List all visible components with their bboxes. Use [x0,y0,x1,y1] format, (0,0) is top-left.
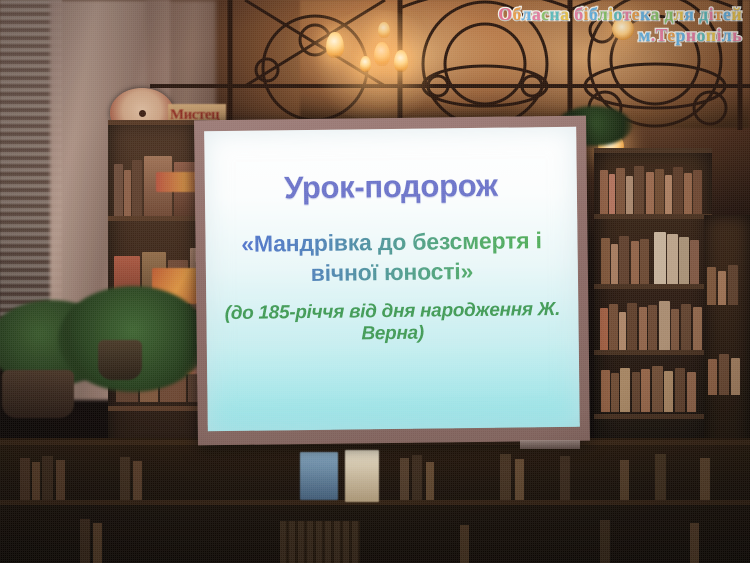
watermark-letter: п [706,25,717,45]
chandelier-bulb [378,22,390,38]
projection-screen-surface: Урок-подорож «Мандрівка до безсмертя і в… [204,127,580,432]
displayed-book-cover [345,450,379,502]
watermark-letter: л [722,25,732,45]
watermark: Обласна бібліотека для дітей м.Тернопіль [498,4,742,46]
watermark-letter: й [731,4,742,24]
watermark-letter: о [696,25,705,45]
chandelier-bulb [374,42,390,66]
watermark-letter: н [686,25,697,45]
watermark-letter: а [650,4,659,24]
chandelier [316,16,436,108]
displayed-book-cover [300,452,338,500]
watermark-letter: л [521,4,531,24]
watermark-letter: р [675,25,685,45]
watermark-letter: е [632,4,640,24]
watermark-letter: б [589,4,598,24]
slide-subtitle: «Мандрівка до безсмертя і вічної юності» [221,225,562,289]
watermark-letter: л [598,4,608,24]
slide-title: Урок-подорож [205,167,577,208]
watermark-letter: Т [656,25,668,45]
watermark-letter: т [623,4,632,24]
watermark-line-2: м.Тернопіль [498,25,742,46]
slide-note: (до 185-річчя від дня народження Ж. Верн… [212,299,573,347]
watermark-letter: а [560,4,569,24]
right-bookcase-far [704,215,750,455]
watermark-line-1: Обласна бібліотека для дітей [498,4,742,25]
chandelier-bulb [360,56,371,72]
watermark-letter: б [574,4,583,24]
watermark-letter: я [684,4,694,24]
watermark-letter: д [699,4,708,24]
projection-screen-support [520,440,580,449]
watermark-letter: к [640,4,650,24]
watermark-letter: д [664,4,673,24]
watermark-letter: т [714,4,723,24]
chandelier-bulb [326,32,344,58]
projection-screen: Урок-подорож «Мандрівка до безсмертя і в… [194,116,590,446]
chandelier-bulb [394,50,408,72]
watermark-letter: ь [732,25,742,45]
plant-pot-center [98,340,142,380]
right-bookcase [594,148,712,448]
bottom-bookcases [0,438,750,563]
library-presentation-photo: Мистец [0,0,750,563]
watermark-letter: а [532,4,541,24]
watermark-letter: о [613,4,622,24]
watermark-letter: л [674,4,684,24]
watermark-letter: м [638,25,651,45]
plant-pot-left [2,370,74,418]
watermark-letter: О [498,4,512,24]
presentation-slide: Урок-подорож «Мандрівка до безсмертя і в… [204,127,580,432]
watermark-letter: н [549,4,560,24]
